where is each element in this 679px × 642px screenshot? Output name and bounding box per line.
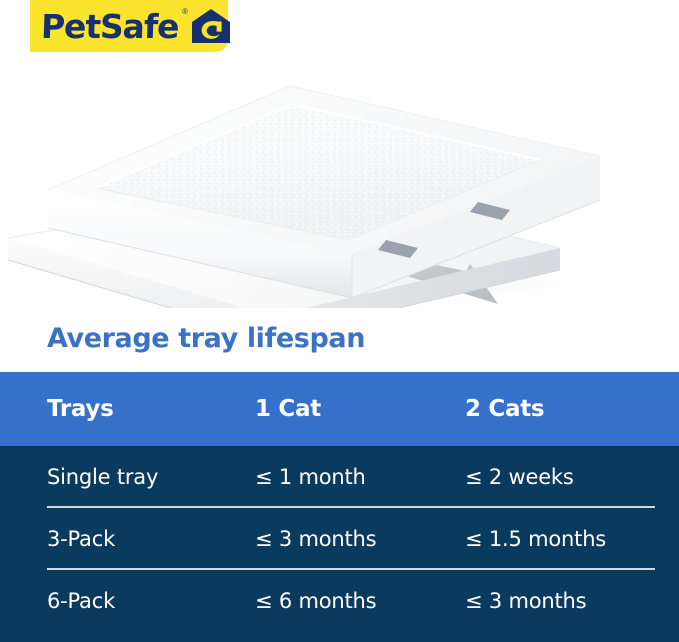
brand-wordmark-text: PetSafe: [40, 7, 179, 46]
value-3-pack-one-cat: ≤ 3 months: [255, 508, 376, 570]
row-label-3-pack: 3-Pack: [47, 508, 115, 570]
table-row: 3-Pack ≤ 3 months ≤ 1.5 months: [0, 508, 679, 570]
row-label-6-pack: 6-Pack: [47, 570, 115, 632]
table-row: Single tray ≤ 1 month ≤ 2 weeks: [0, 446, 679, 508]
value-single-tray-one-cat: ≤ 1 month: [255, 446, 366, 508]
registered-trademark-symbol: ®: [182, 8, 188, 16]
tray-lifespan-table: Trays 1 Cat 2 Cats Single tray ≤ 1 month…: [0, 372, 679, 642]
product-info-graphic: PetSafe ®: [0, 0, 679, 642]
table-header-row: Trays 1 Cat 2 Cats: [0, 372, 679, 446]
value-3-pack-two-cats: ≤ 1.5 months: [465, 508, 606, 570]
value-6-pack-one-cat: ≤ 6 months: [255, 570, 376, 632]
row-label-single-tray: Single tray: [47, 446, 158, 508]
section-heading: Average tray lifespan: [47, 324, 365, 354]
table-body: Single tray ≤ 1 month ≤ 2 weeks 3-Pack ≤…: [0, 446, 679, 642]
petsafe-logo: PetSafe ®: [30, 0, 228, 52]
value-single-tray-two-cats: ≤ 2 weeks: [465, 446, 574, 508]
product-image: [0, 58, 679, 308]
column-header-two-cats: 2 Cats: [465, 372, 544, 446]
column-header-trays: Trays: [47, 372, 114, 446]
litter-trays-illustration: [0, 58, 679, 308]
table-row: 6-Pack ≤ 6 months ≤ 3 months: [0, 570, 679, 632]
brand-wordmark: PetSafe ®: [40, 10, 179, 43]
column-header-one-cat: 1 Cat: [255, 372, 321, 446]
house-icon: [191, 8, 231, 44]
value-6-pack-two-cats: ≤ 3 months: [465, 570, 586, 632]
